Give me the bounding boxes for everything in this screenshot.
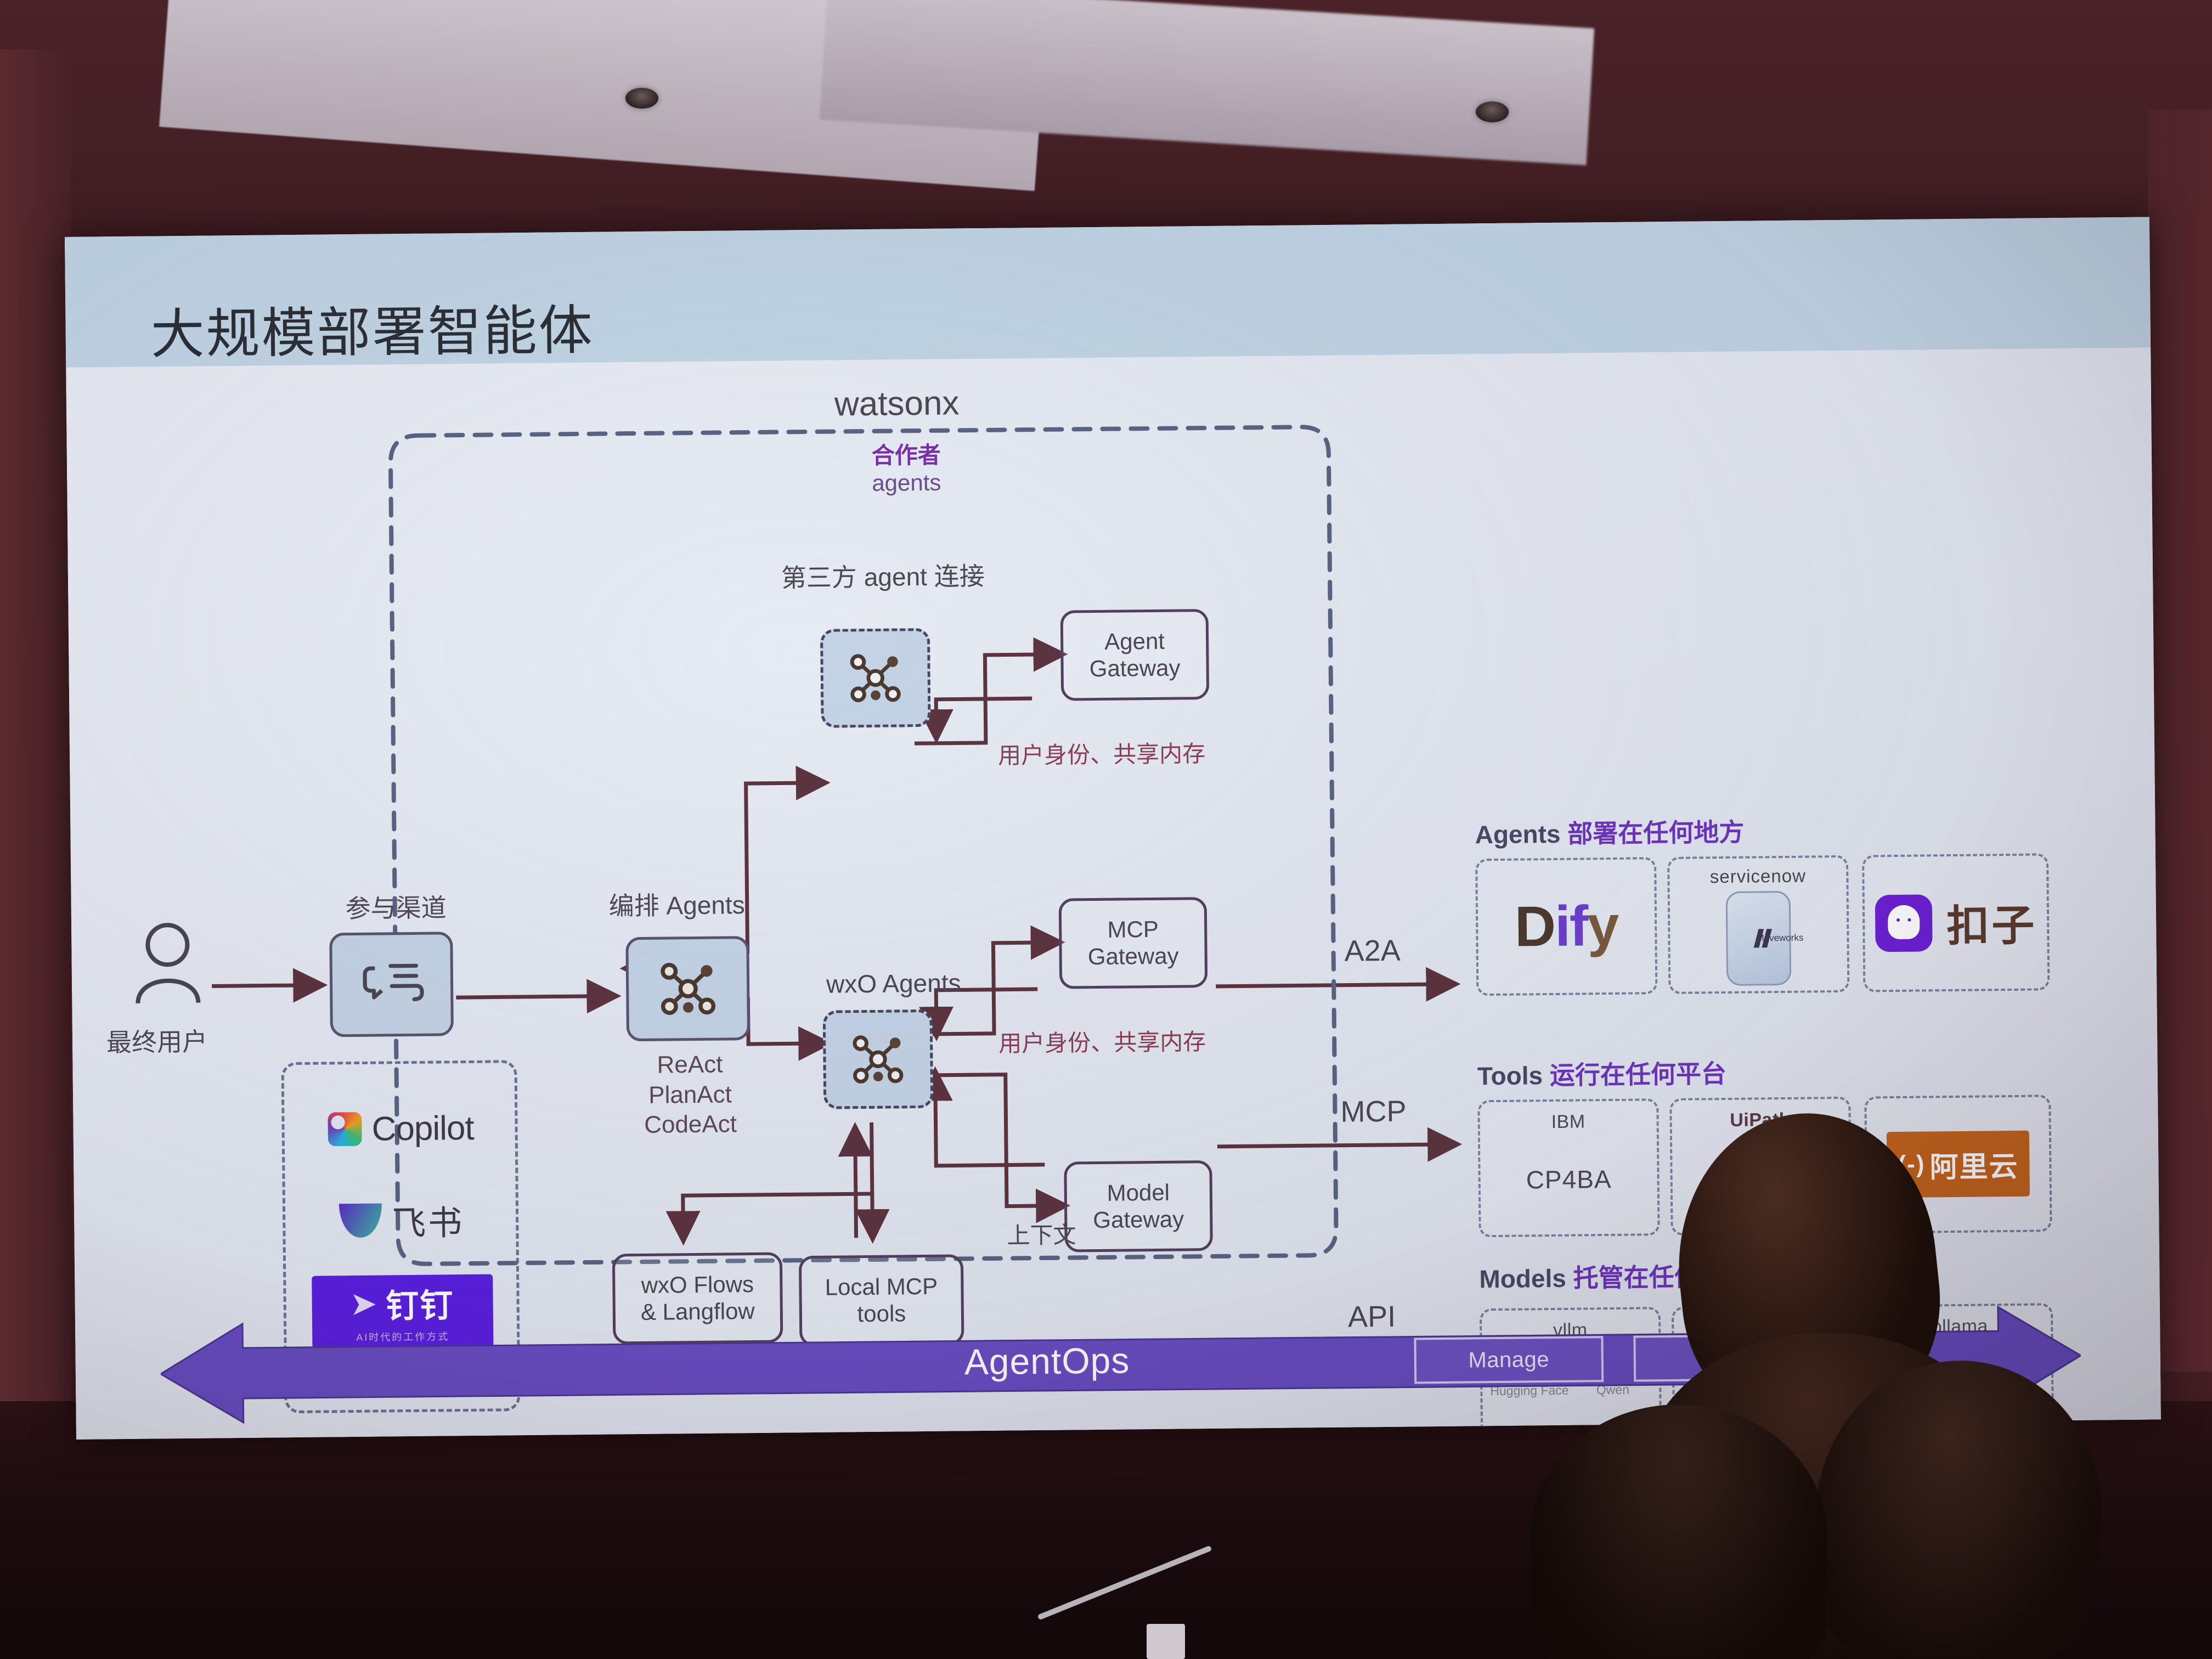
local-tools-line-1: Local MCP [825, 1273, 938, 1301]
model-gateway-line-2: Gateway [1093, 1206, 1184, 1233]
agent-gateway-note: 用户身份、共享内存 [998, 735, 1206, 771]
mode-planact: PlanAct [627, 1080, 754, 1111]
dingtalk-wing-icon: ➤ [351, 1286, 377, 1321]
platform-label: watsonx [834, 383, 960, 424]
feishu-logo-icon [339, 1204, 382, 1238]
end-user-icon [132, 921, 204, 1009]
engagement-channel-node[interactable] [329, 932, 454, 1037]
wxo-agent-node[interactable] [823, 1009, 934, 1109]
agentops-label: AgentOps [964, 1339, 1130, 1383]
manage-button[interactable]: Manage [1414, 1336, 1604, 1384]
model-gateway-note: 上下文 [1007, 1216, 1076, 1250]
agent-gateway-line-2: Gateway [1090, 654, 1181, 682]
mcp-gateway-line-2: Gateway [1088, 943, 1179, 970]
ceiling-downlight [1476, 101, 1509, 122]
tile-dify[interactable]: Dify Dify [1475, 857, 1657, 996]
page-title: 大规模部署智能体 [150, 287, 594, 369]
ceiling-downlight [625, 88, 658, 109]
tile-kouzi[interactable]: 扣子 [1862, 853, 2050, 992]
channel-item-copilot[interactable]: Copilot [299, 1086, 503, 1171]
model-gateway-box[interactable]: Model Gateway [1064, 1160, 1213, 1252]
wxo-agents-label: wxO Agents [826, 968, 961, 998]
section-title-en: Agents [1475, 820, 1567, 849]
orchestration-modes: ReAct PlanAct CodeAct [627, 1049, 754, 1141]
partner-label-cn: 合作者 [824, 441, 989, 470]
orchestration-label: 编排 Agents [608, 885, 745, 922]
section-title-cn: 运行在任何平台 [1550, 1059, 1726, 1090]
mode-codeact: CodeAct [627, 1109, 754, 1141]
cp4ba-label: CP4BA [1526, 1164, 1611, 1194]
orchestration-agent-node[interactable] [625, 936, 750, 1041]
section-title-cn: 部署在任何地方 [1567, 818, 1744, 848]
section-title-tools: Tools 运行在任何平台 [1477, 1054, 1726, 1092]
section-title-agents: Agents 部署在任何地方 [1475, 812, 1744, 851]
model-gateway-line-1: Model [1093, 1179, 1184, 1206]
foreground-object [1147, 1624, 1185, 1659]
aliyun-label: 阿里云 [1929, 1143, 2019, 1185]
protocol-label-a2a: A2A [1344, 934, 1401, 968]
agent-gateway-box[interactable]: Agent Gateway [1060, 609, 1210, 701]
wxo-flows-line-1: wxO Flows [640, 1271, 754, 1299]
protocol-label-mcp: MCP [1340, 1094, 1407, 1129]
tile-ibm-cp4ba[interactable]: IBM CP4BA [1477, 1098, 1660, 1237]
agent-network-icon [843, 645, 908, 710]
third-party-connect-label: 第三方 agent 连接 [781, 556, 985, 595]
ibm-label: IBM [1551, 1111, 1585, 1133]
channel-item-feishu[interactable]: 飞书 [300, 1178, 504, 1262]
kouzi-label: 扣子 [1946, 891, 2037, 954]
chat-channel-icon [357, 953, 426, 1015]
mode-react: ReAct [627, 1049, 753, 1081]
moveworks-logo-icon: Moveworks [1726, 891, 1792, 986]
audience-head [1531, 1404, 1827, 1659]
partner-label-en: agents [824, 469, 989, 498]
section-title-en: Models [1479, 1264, 1573, 1294]
tile-servicenow[interactable]: servicenow Moveworks [1667, 855, 1849, 994]
third-party-agent-node[interactable] [820, 628, 931, 728]
section-title-en: Tools [1477, 1061, 1550, 1090]
mcp-gateway-box[interactable]: MCP Gateway [1059, 897, 1208, 989]
agent-gateway-line-1: Agent [1089, 628, 1180, 655]
partner-agents-label: 合作者 agents [824, 441, 989, 498]
channels-label: 参与渠道 [345, 888, 447, 925]
agent-network-icon [845, 1026, 911, 1092]
channel-item-label: 飞书 [392, 1195, 465, 1245]
kouzi-logo-icon [1875, 894, 1933, 952]
wall-left [0, 49, 71, 1448]
mcp-gateway-note: 用户身份、共享内存 [998, 1023, 1206, 1059]
servicenow-logo-word: servicenow [1710, 866, 1806, 888]
moveworks-label: Moveworks [1756, 933, 1803, 944]
end-user-label: 最终用户 [106, 1022, 208, 1059]
agent-network-icon [652, 953, 723, 1024]
dify-logo: Dify [1514, 893, 1618, 960]
channel-item-label: Copilot [371, 1108, 474, 1148]
copilot-logo-icon [328, 1112, 362, 1147]
mcp-gateway-line-1: MCP [1087, 916, 1178, 943]
